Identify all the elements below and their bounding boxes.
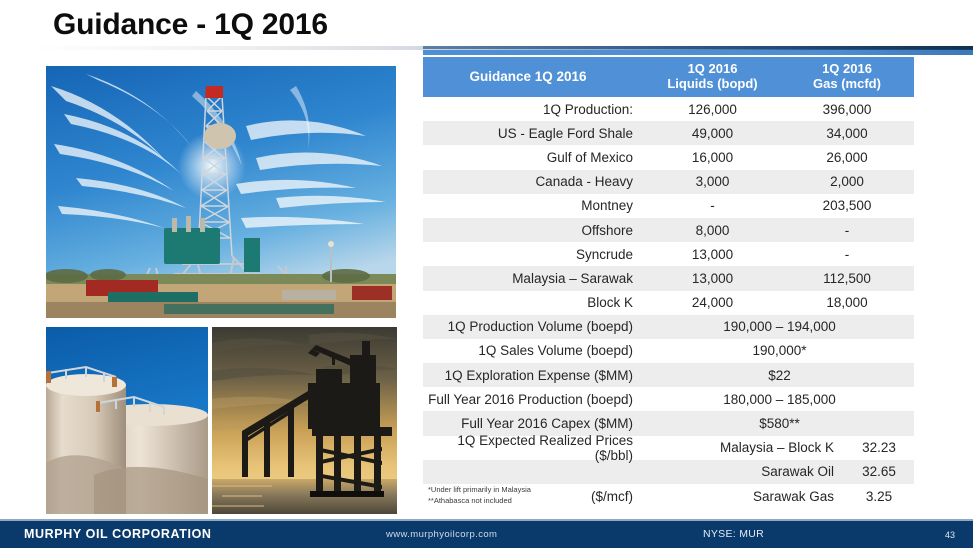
summary-label: 1Q Production Volume (boepd) [423, 319, 645, 334]
row-gas: 26,000 [780, 150, 914, 165]
table-summary-row: 1Q Production Volume (boepd) 190,000 – 1… [423, 315, 914, 339]
table-row: Gulf of Mexico 16,000 26,000 [423, 145, 914, 169]
table-row: 1Q Production: 126,000 396,000 [423, 97, 914, 121]
table-row: Syncrude 13,000 - [423, 242, 914, 266]
storage-tanks-photo [46, 327, 208, 514]
row-gas: 2,000 [780, 174, 914, 189]
row-gas: 112,500 [780, 271, 914, 286]
table-footnotes: *Under lift primarily in Malaysia **Atha… [428, 485, 576, 507]
header-gas-line1: 1Q 2016 [780, 62, 914, 77]
row-gas: 18,000 [780, 295, 914, 310]
row-liquids: 24,000 [645, 295, 780, 310]
summary-value: $22 [645, 368, 914, 383]
row-gas: 203,500 [780, 198, 914, 213]
price-item: Sarawak Gas [645, 489, 844, 504]
row-gas: - [780, 223, 914, 238]
row-liquids: 3,000 [645, 174, 780, 189]
offshore-platform-photo [212, 327, 397, 514]
row-label: Syncrude [423, 247, 645, 262]
footnote-1: *Under lift primarily in Malaysia [428, 485, 576, 496]
row-label: Canada - Heavy [423, 174, 645, 189]
row-gas: - [780, 247, 914, 262]
table-summary-row: 1Q Sales Volume (boepd) 190,000* [423, 339, 914, 363]
summary-label: 1Q Sales Volume (boepd) [423, 343, 645, 358]
table-row: US - Eagle Ford Shale 49,000 34,000 [423, 121, 914, 145]
row-label: 1Q Production: [423, 102, 645, 117]
price-label: 1Q Expected Realized Prices ($/bbl) [423, 433, 645, 463]
footer-ticker: NYSE: MUR [703, 528, 764, 540]
header-liquids: 1Q 2016 Liquids (bopd) [645, 62, 780, 92]
row-liquids: 13,000 [645, 271, 780, 286]
footer-url[interactable]: www.murphyoilcorp.com [386, 529, 497, 540]
table-row: Block K 24,000 18,000 [423, 291, 914, 315]
price-value: 3.25 [844, 489, 914, 504]
row-label: Block K [423, 295, 645, 310]
row-liquids: 16,000 [645, 150, 780, 165]
table-summary-row: Full Year 2016 Production (boepd) 180,00… [423, 387, 914, 411]
table-row: Montney - 203,500 [423, 194, 914, 218]
row-liquids: 8,000 [645, 223, 780, 238]
table-row: Offshore 8,000 - [423, 218, 914, 242]
summary-label: Full Year 2016 Capex ($MM) [423, 416, 645, 431]
footnote-2: **Athabasca not included [428, 496, 576, 507]
row-label: US - Eagle Ford Shale [423, 126, 645, 141]
summary-value: 190,000 – 194,000 [645, 319, 914, 334]
row-label: Gulf of Mexico [423, 150, 645, 165]
row-label: Offshore [423, 223, 645, 238]
title-divider-dark [423, 46, 973, 49]
summary-label: 1Q Exploration Expense ($MM) [423, 368, 645, 383]
table-price-row: Sarawak Oil 32.65 [423, 460, 914, 484]
drilling-rig-photo [46, 66, 396, 318]
price-value: 32.65 [844, 464, 914, 479]
title-divider-blue [423, 50, 973, 55]
summary-value: $580** [645, 416, 914, 431]
row-label: Malaysia – Sarawak [423, 271, 645, 286]
table-summary-row: 1Q Exploration Expense ($MM) $22 [423, 363, 914, 387]
price-item: Sarawak Oil [645, 464, 844, 479]
page-title: Guidance - 1Q 2016 [53, 8, 328, 42]
row-liquids: - [645, 198, 780, 213]
guidance-table: Guidance 1Q 2016 1Q 2016 Liquids (bopd) … [423, 57, 914, 508]
header-guidance: Guidance 1Q 2016 [423, 69, 645, 85]
header-gas: 1Q 2016 Gas (mcfd) [780, 62, 914, 92]
row-liquids: 49,000 [645, 126, 780, 141]
table-row: Malaysia – Sarawak 13,000 112,500 [423, 266, 914, 290]
header-liquids-line2: Liquids (bopd) [645, 77, 780, 92]
table-price-row: 1Q Expected Realized Prices ($/bbl) Mala… [423, 436, 914, 460]
footer-page-number: 43 [945, 530, 955, 540]
row-liquids: 13,000 [645, 247, 780, 262]
table-row: Canada - Heavy 3,000 2,000 [423, 170, 914, 194]
row-gas: 396,000 [780, 102, 914, 117]
row-label: Montney [423, 198, 645, 213]
summary-value: 190,000* [645, 343, 914, 358]
header-liquids-line1: 1Q 2016 [645, 62, 780, 77]
slide: Guidance - 1Q 2016 [0, 0, 973, 548]
price-value: 32.23 [844, 440, 914, 455]
summary-value: 180,000 – 185,000 [645, 392, 914, 407]
footer-brand: MURPHY OIL CORPORATION [24, 527, 212, 541]
row-gas: 34,000 [780, 126, 914, 141]
summary-label: Full Year 2016 Production (boepd) [423, 392, 645, 407]
row-liquids: 126,000 [645, 102, 780, 117]
table-header-row: Guidance 1Q 2016 1Q 2016 Liquids (bopd) … [423, 57, 914, 97]
header-gas-line2: Gas (mcfd) [780, 77, 914, 92]
price-item: Malaysia – Block K [645, 440, 844, 455]
